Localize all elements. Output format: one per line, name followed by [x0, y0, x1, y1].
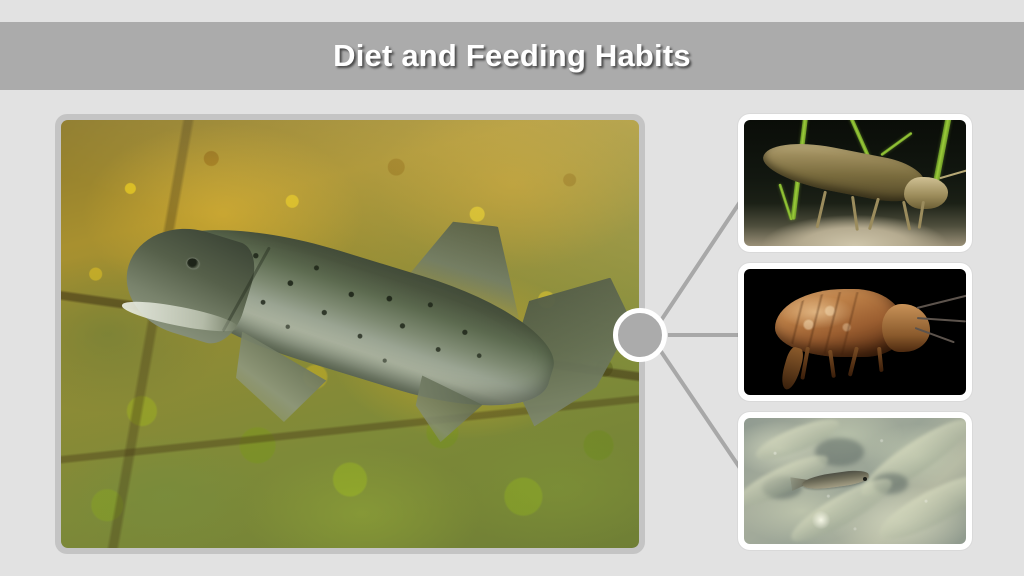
- plant-stem-icon: [778, 183, 793, 220]
- larva-leg: [815, 190, 826, 228]
- diet-hub-node[interactable]: [613, 308, 667, 362]
- page-title: Diet and Feeding Habits: [0, 22, 1024, 90]
- slide-canvas: Diet and Feeding Habits: [0, 0, 1024, 576]
- fish-fry-photo: [744, 418, 966, 544]
- prey-thumbnail-3[interactable]: [738, 412, 972, 550]
- larva-leg: [868, 198, 880, 230]
- plant-stem-icon: [880, 132, 912, 157]
- connector-line-3: [660, 350, 744, 474]
- salmon-main-photo-frame[interactable]: [55, 114, 645, 554]
- salmon-main-photo: [61, 120, 639, 548]
- prey-thumbnail-1[interactable]: [738, 114, 972, 252]
- insect-larva-photo: [744, 120, 966, 246]
- amphipod-antenna: [917, 294, 966, 309]
- water-particles: [744, 418, 966, 544]
- larva-antenna: [940, 169, 966, 179]
- larva-head: [904, 177, 948, 210]
- amphipod-photo: [744, 269, 966, 395]
- amphipod-head: [882, 304, 931, 352]
- larva-leg: [851, 195, 859, 230]
- connector-line-1: [660, 196, 744, 322]
- prey-thumbnail-2[interactable]: [738, 263, 972, 401]
